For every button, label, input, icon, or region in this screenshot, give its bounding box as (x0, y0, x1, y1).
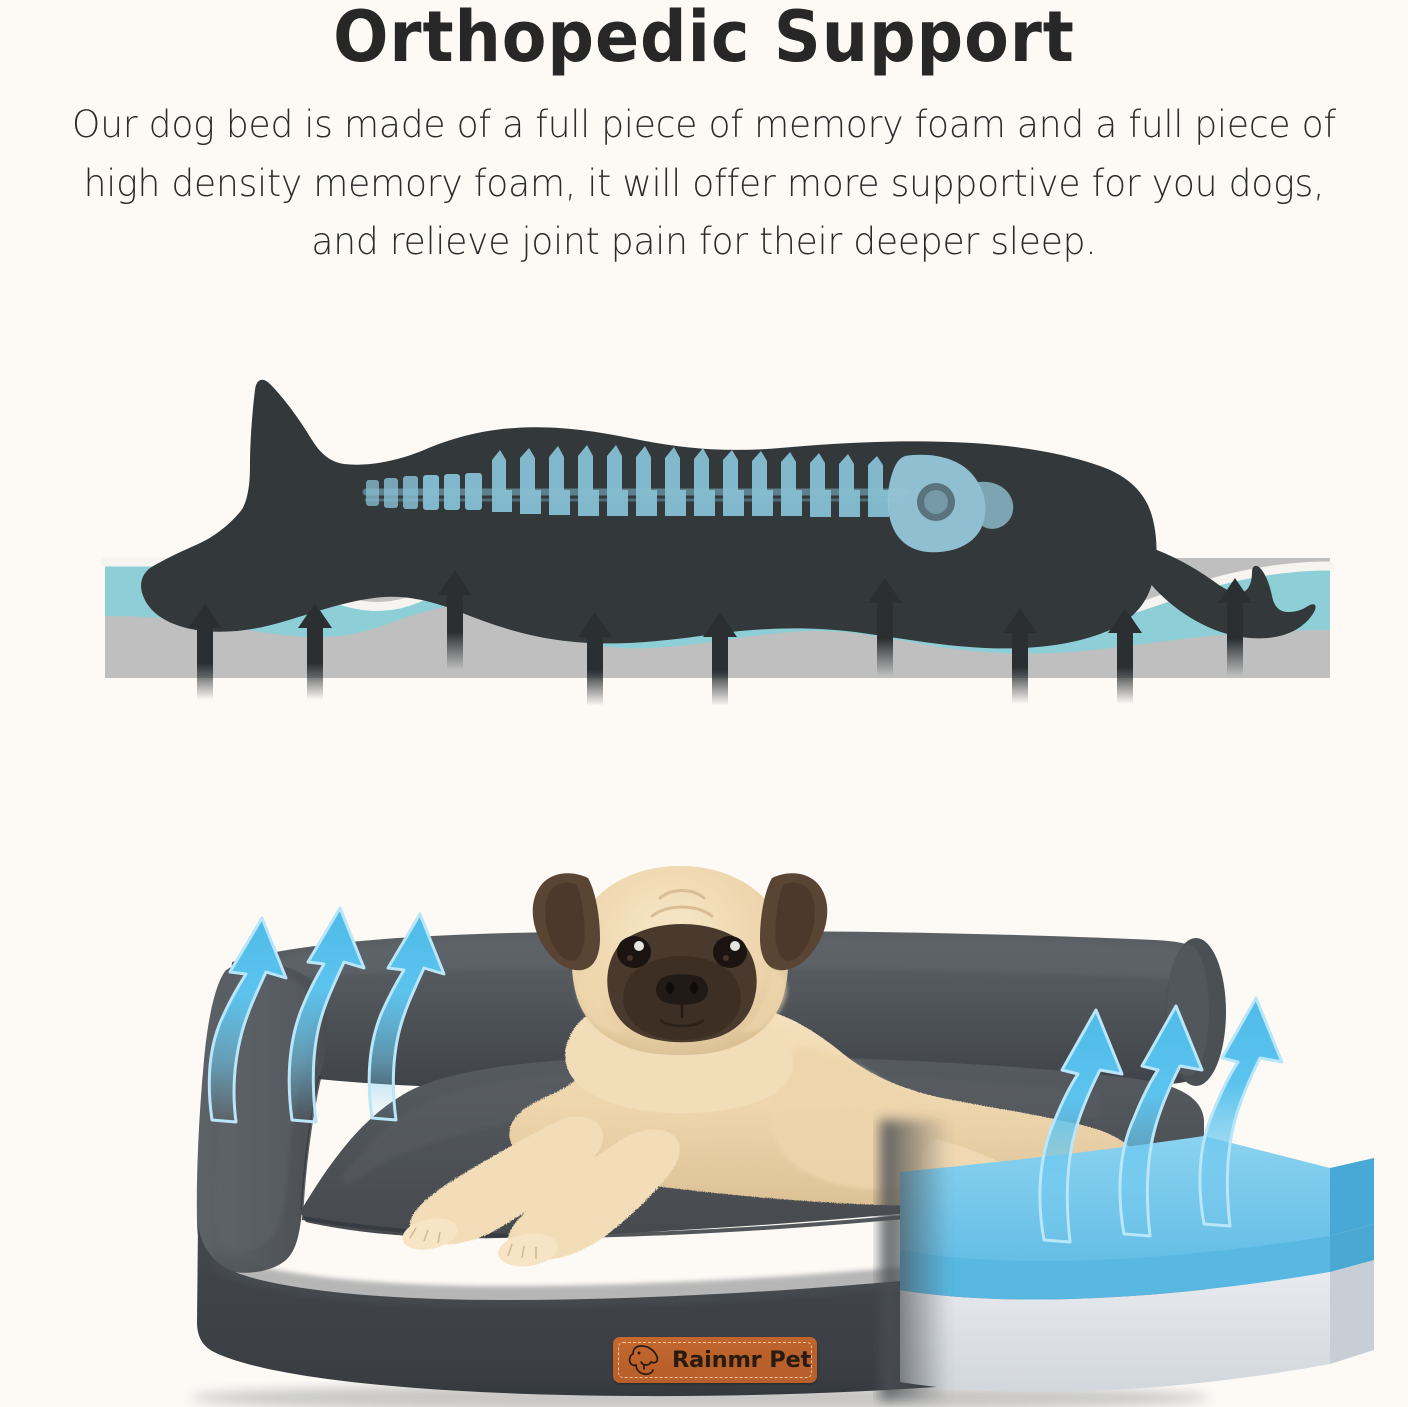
brand-label: Rainmr Pet (613, 1337, 817, 1383)
brand-name: Rainmr Pet (672, 1347, 811, 1373)
dog-head-icon (627, 1343, 663, 1377)
header: Orthopedic Support Our dog bed is made o… (0, 0, 1408, 271)
page-title: Orthopedic Support (49, 2, 1358, 73)
description-line-2: high density memory foam, it will offer … (40, 154, 1369, 213)
product-photo-scene (0, 820, 1408, 1407)
orthopedic-support-diagram (0, 340, 1408, 740)
page-description: Our dog bed is made of a full piece of m… (28, 95, 1380, 271)
description-line-3: and relieve joint pain for their deeper … (40, 212, 1369, 271)
description-line-1: Our dog bed is made of a full piece of m… (40, 95, 1369, 154)
dog-head (533, 866, 828, 1113)
